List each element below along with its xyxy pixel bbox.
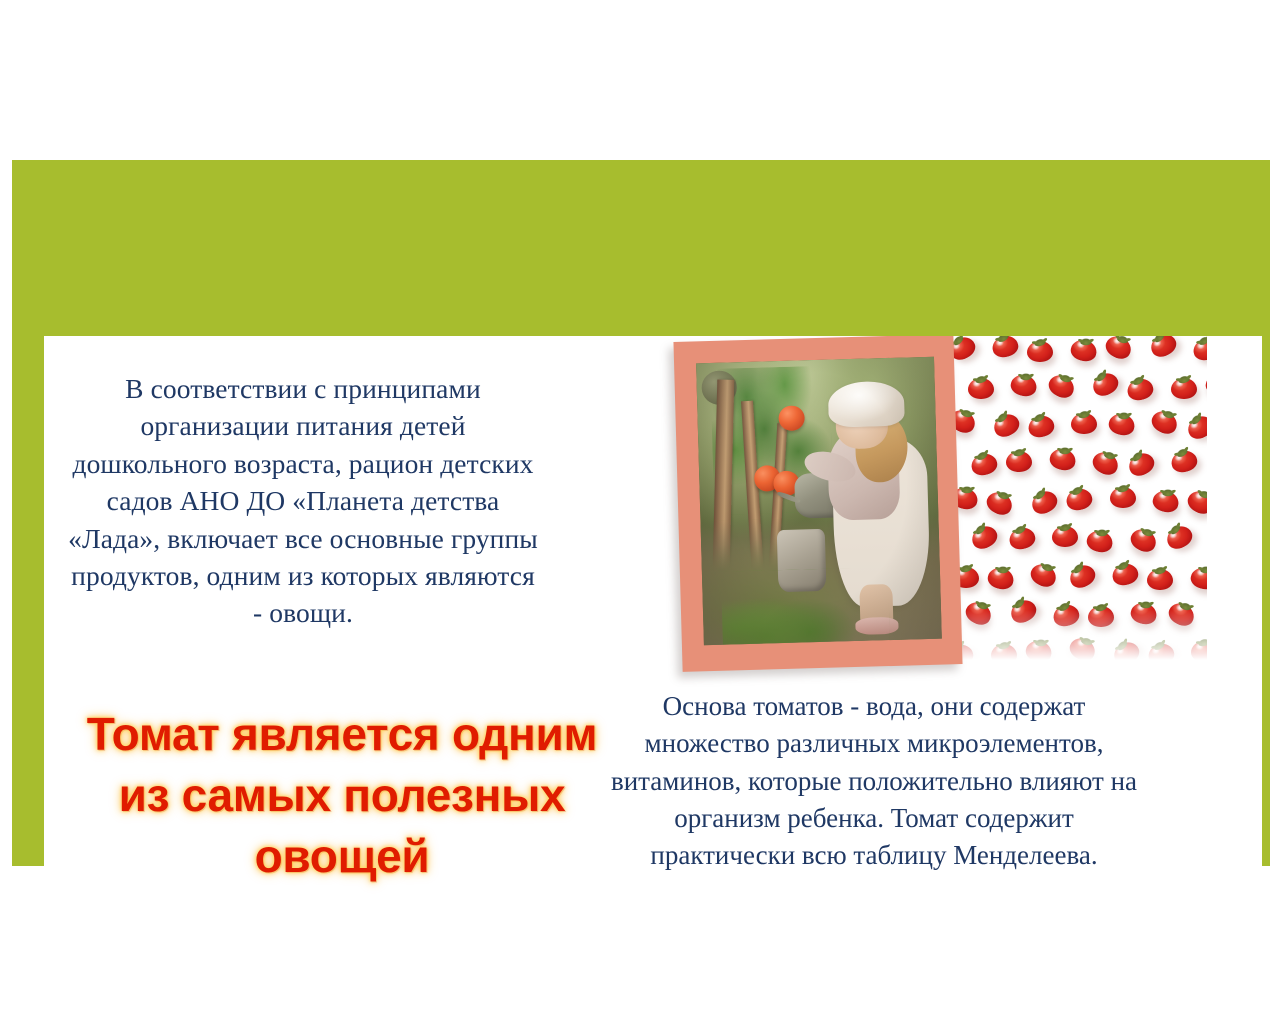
tomato-icon	[1069, 336, 1100, 364]
tomato-icon	[1065, 559, 1099, 592]
tomato-stem	[1096, 529, 1108, 536]
tomato-icon	[1102, 336, 1136, 363]
tomato-body	[1066, 634, 1099, 665]
tomato-stem	[1118, 412, 1130, 419]
tomato-body	[1204, 372, 1207, 399]
slide-root: В соответствии с принципами организации …	[0, 0, 1280, 1024]
tomato-icon	[1088, 604, 1114, 627]
tomato-icon	[1027, 485, 1061, 518]
tomato-icon	[967, 520, 1001, 553]
left-text-column: В соответствии с принципами организации …	[68, 370, 538, 632]
tomato-icon	[1110, 485, 1136, 508]
tomato-icon	[1007, 523, 1038, 552]
tomato-stem	[961, 486, 973, 493]
tomato-icon	[1147, 567, 1173, 590]
garden-photo-frame	[673, 336, 962, 672]
tomato-icon	[1183, 410, 1207, 443]
tomato-icon	[1009, 370, 1040, 399]
tomato-icon	[1191, 336, 1207, 363]
tomato-icon	[1151, 486, 1182, 515]
tomato-icon	[1006, 594, 1040, 627]
tomato-icon	[1027, 339, 1053, 362]
tomato-icon	[968, 376, 994, 399]
tomato-icon	[1045, 369, 1079, 402]
tomato-icon	[1085, 526, 1116, 555]
tomato-icon	[1148, 405, 1182, 438]
tomato-stem	[1200, 566, 1207, 573]
tomato-icon	[1127, 523, 1161, 556]
tomato-icon	[1146, 639, 1177, 668]
tomato-icon	[1089, 446, 1123, 479]
intro-paragraph: В соответствии с принципами организации …	[68, 370, 538, 632]
tomato-stem	[997, 641, 1010, 651]
tomato-icon	[1129, 598, 1160, 627]
tomato-stem	[997, 566, 1009, 573]
tomato-stem	[1035, 639, 1047, 646]
tomato-body	[1191, 641, 1207, 662]
tomato-icon	[1189, 563, 1207, 592]
tomato-stem	[1080, 338, 1092, 345]
tomato-body	[1024, 638, 1054, 665]
tomato-icon	[1066, 632, 1100, 665]
tomato-icon	[1191, 639, 1207, 662]
tomato-benefits-paragraph: Основа томатов - вода, они содержат множ…	[604, 688, 1144, 874]
tomato-icon	[1146, 336, 1180, 361]
tomato-icon	[1052, 524, 1078, 547]
tomato-icon	[1110, 559, 1141, 588]
tomato-icon	[1051, 600, 1082, 629]
tomato-icon	[1204, 370, 1207, 399]
tomato-icon	[1171, 376, 1197, 399]
tomato-icon	[990, 336, 1021, 360]
slide-green-border: В соответствии с принципами организации …	[12, 160, 1270, 866]
garden-photo-image	[696, 357, 942, 646]
tomato-stem	[1152, 640, 1166, 652]
slide-content-panel: В соответствии с принципами организации …	[44, 336, 1262, 1004]
tomato-icon	[1107, 409, 1138, 438]
tomato-icon	[1048, 444, 1079, 473]
tomato-icon	[1006, 449, 1032, 472]
tomato-icon	[1124, 447, 1158, 480]
tomato-icon	[1169, 446, 1200, 475]
tomato-icon	[986, 563, 1017, 592]
tomato-body	[1088, 606, 1114, 627]
tomato-icon	[1088, 367, 1122, 400]
tomato-icon	[1184, 485, 1207, 518]
photo-vignette	[696, 357, 942, 646]
tomato-icon	[1024, 636, 1055, 665]
tomato-stem	[1197, 638, 1207, 648]
tomato-icon	[983, 486, 1017, 519]
tomato-stem	[1162, 489, 1174, 496]
tomato-icon	[1125, 374, 1156, 403]
tomato-pattern-decoration	[949, 336, 1207, 668]
tomato-stem	[1179, 602, 1192, 612]
tomato-stem	[1115, 639, 1129, 652]
tomato-stem	[1059, 447, 1071, 454]
tomato-body	[991, 644, 1017, 665]
page-title: Томат является одним из самых полезных о…	[62, 704, 622, 888]
tomato-body	[1110, 638, 1143, 668]
tomato-icon	[1162, 520, 1196, 553]
tomato-icon	[962, 596, 996, 629]
tomato-icon	[1165, 597, 1199, 630]
tomato-icon	[1064, 484, 1095, 513]
tomato-stem	[1057, 601, 1071, 613]
tomato-body	[1146, 641, 1176, 668]
tomato-icon	[1027, 558, 1061, 591]
tomato-icon	[1026, 411, 1057, 440]
tomato-stem	[1094, 603, 1107, 613]
tomato-icon	[991, 642, 1017, 665]
tomato-stem	[1020, 373, 1032, 380]
tomato-icon	[989, 408, 1023, 441]
tomato-stem	[1140, 601, 1152, 608]
tomato-icon	[969, 449, 1000, 478]
tomato-icon	[1071, 411, 1097, 434]
tomato-stem	[1080, 637, 1093, 647]
tomato-icon	[1109, 636, 1143, 668]
